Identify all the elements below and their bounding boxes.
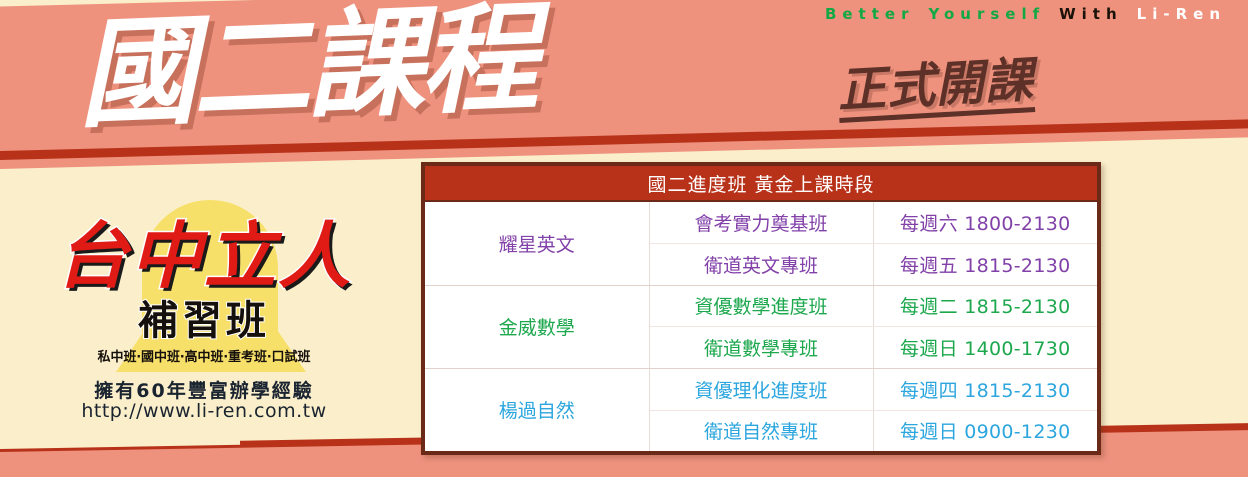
tagline-word-2: Yourself <box>928 5 1045 23</box>
subject-cell: 金威數學 <box>425 285 649 368</box>
course-cell: 衛道自然專班 <box>649 410 873 451</box>
course-cell: 衛道英文專班 <box>649 243 873 285</box>
time-cell: 每週日 1400-1730 <box>873 327 1097 369</box>
logo-website-url[interactable]: http://www.li-ren.com.tw <box>24 400 384 422</box>
tagline-word-3: With <box>1059 5 1123 23</box>
logo-experience-text: 擁有60年豐富辦學經驗 <box>24 376 384 403</box>
time-cell: 每週六 1800-2130 <box>873 201 1097 243</box>
logo-class-list: 私中班‧國中班‧高中班‧重考班‧口試班 <box>24 346 384 365</box>
logo-brand-name: 台中立人 <box>24 220 384 292</box>
table-row: 楊過自然 資優理化進度班 每週四 1815-2130 <box>425 368 1097 410</box>
brand-logo: 台中立人 補習班 私中班‧國中班‧高中班‧重考班‧口試班 擁有60年豐富辦學經驗… <box>24 196 384 426</box>
time-cell: 每週日 0900-1230 <box>873 410 1097 451</box>
schedule-table-title: 國二進度班 黃金上課時段 <box>425 166 1097 201</box>
logo-brand-type: 補習班 <box>24 301 384 341</box>
table-row: 耀星英文 會考實力奠基班 每週六 1800-2130 <box>425 201 1097 243</box>
subject-cell: 耀星英文 <box>425 201 649 285</box>
schedule-table-body: 耀星英文 會考實力奠基班 每週六 1800-2130 衛道英文專班 每週五 18… <box>425 201 1097 451</box>
time-cell: 每週二 1815-2130 <box>873 285 1097 327</box>
tagline: Better Yourself With Li-Ren <box>636 2 1240 26</box>
tagline-word-4: Li-Ren <box>1137 5 1226 23</box>
course-cell: 資優理化進度班 <box>649 368 873 410</box>
time-cell: 每週五 1815-2130 <box>873 243 1097 285</box>
page-title: 國二課程 <box>76 0 536 134</box>
table-row: 金威數學 資優數學進度班 每週二 1815-2130 <box>425 285 1097 327</box>
tagline-word-1: Better <box>825 5 915 23</box>
schedule-table: 國二進度班 黃金上課時段 耀星英文 會考實力奠基班 每週六 1800-2130 … <box>425 166 1097 451</box>
course-cell: 會考實力奠基班 <box>649 201 873 243</box>
course-cell: 資優數學進度班 <box>649 285 873 327</box>
subject-cell: 楊過自然 <box>425 368 649 451</box>
schedule-table-container: 國二進度班 黃金上課時段 耀星英文 會考實力奠基班 每週六 1800-2130 … <box>421 162 1101 455</box>
course-cell: 衛道數學專班 <box>649 327 873 369</box>
banner-canvas: Better Yourself With Li-Ren 國二課程 正式開課 台中… <box>0 0 1248 477</box>
page-subtitle: 正式開課 <box>836 56 1035 123</box>
time-cell: 每週四 1815-2130 <box>873 368 1097 410</box>
